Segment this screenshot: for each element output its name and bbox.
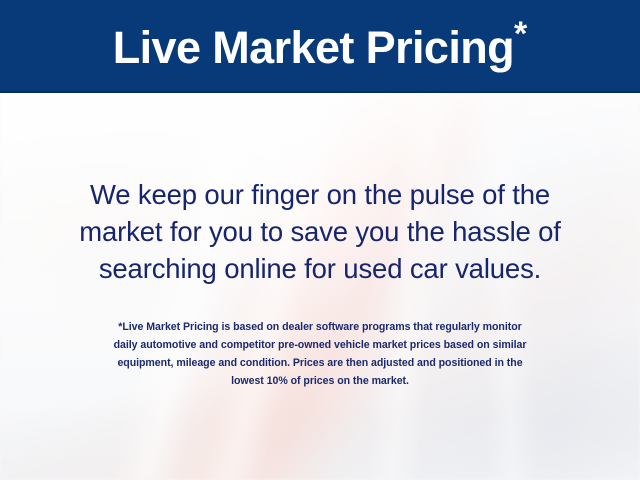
title-asterisk-marker: * (514, 15, 527, 53)
headline-line: We keep our finger on the pulse of the (22, 176, 618, 213)
disclaimer-line: *Live Market Pricing is based on dealer … (28, 318, 612, 336)
headline-text: We keep our finger on the pulse of the m… (0, 176, 640, 287)
page-title: Live Market Pricing* (113, 17, 527, 74)
header-banner: Live Market Pricing* (0, 0, 640, 93)
headline-line: searching online for used car values. (22, 250, 618, 287)
disclaimer-text: *Live Market Pricing is based on dealer … (0, 318, 640, 390)
disclaimer-line: equipment, mileage and condition. Prices… (28, 354, 612, 372)
content-area: We keep our finger on the pulse of the m… (0, 93, 640, 480)
disclaimer-line: daily automotive and competitor pre-owne… (28, 336, 612, 354)
disclaimer-line: lowest 10% of prices on the market. (28, 372, 612, 390)
page-title-text: Live Market Pricing (113, 22, 514, 73)
headline-line: market for you to save you the hassle of (22, 213, 618, 250)
live-market-pricing-promo: Live Market Pricing* We keep our finger … (0, 0, 640, 480)
